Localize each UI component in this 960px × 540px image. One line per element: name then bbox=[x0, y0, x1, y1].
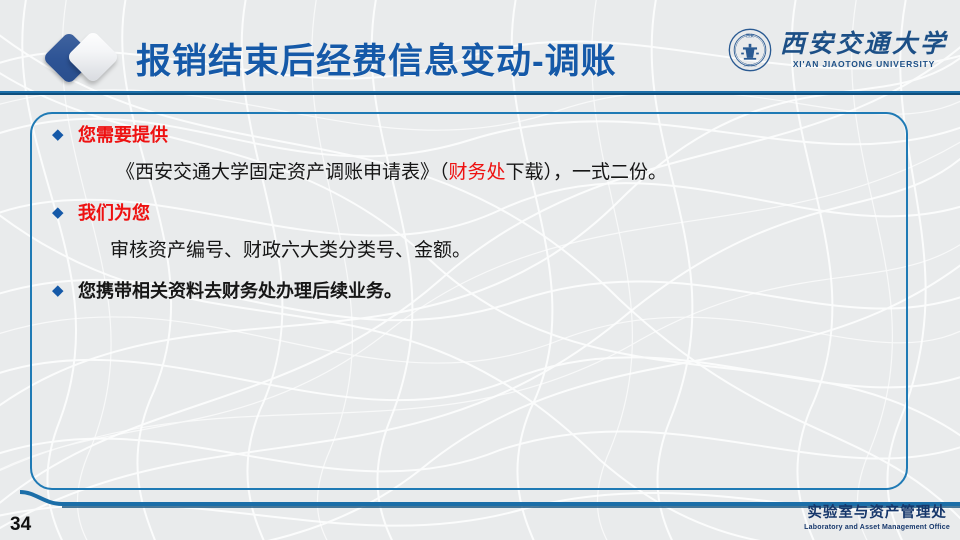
detail-suffix: 下载），一式二份。 bbox=[506, 162, 668, 183]
detail-prefix: 审核资产编号、财政六大类分类号、金额。 bbox=[110, 240, 471, 261]
diamond-bullet-icon: ◆ bbox=[52, 196, 78, 230]
header-divider-inner bbox=[0, 93, 960, 95]
svg-text:西安: 西安 bbox=[746, 33, 754, 38]
detail-prefix: 《西安交通大学固定资产调账申请表》（ bbox=[116, 162, 449, 183]
list-item: ◆ 您需要提供 bbox=[52, 118, 892, 152]
diamond-bullet-icon: ◆ bbox=[52, 118, 78, 152]
list-item: ◆ 我们为您 bbox=[52, 196, 892, 230]
xjtu-seal-icon: 西安 JIAOTONG bbox=[728, 28, 772, 72]
bullet-list: ◆ 您需要提供 《西安交通大学固定资产调账申请表》（财务处下载），一式二份。 ◆… bbox=[52, 118, 892, 310]
page-title: 报销结束后经费信息变动-调账 bbox=[136, 33, 617, 84]
footer-organization: 实验室与资产管理处 Laboratory and Asset Managemen… bbox=[804, 506, 950, 531]
list-item-heading: 您需要提供 bbox=[78, 118, 168, 152]
list-item-detail: 《西安交通大学固定资产调账申请表》（财务处下载），一式二份。 bbox=[116, 156, 892, 190]
list-item-heading: 您携带相关资料去财务处办理后续业务。 bbox=[78, 274, 402, 308]
diamond-bullet-icon: ◆ bbox=[52, 274, 78, 308]
university-name-en: XI'AN JIAOTONG UNIVERSITY bbox=[793, 60, 935, 69]
university-logo: 西安 JIAOTONG 西安交通大学 XI'AN JIAOTONG UNIVER… bbox=[728, 28, 948, 72]
footer-org-cn: 实验室与资产管理处 bbox=[804, 506, 950, 521]
university-name-cn: 西安交通大学 bbox=[780, 32, 948, 57]
svg-text:JIAOTONG: JIAOTONG bbox=[743, 64, 756, 68]
footer-org-en: Laboratory and Asset Management Office bbox=[804, 524, 950, 531]
list-item: ◆ 您携带相关资料去财务处办理后续业务。 bbox=[52, 274, 892, 308]
slide: 报销结束后经费信息变动-调账 西安 JIAOTONG 西安交通大学 XI'AN … bbox=[0, 0, 960, 540]
list-item-heading: 我们为您 bbox=[78, 196, 150, 230]
slide-header: 报销结束后经费信息变动-调账 西安 JIAOTONG 西安交通大学 XI'AN … bbox=[0, 0, 960, 93]
detail-highlight: 财务处 bbox=[449, 162, 506, 183]
list-item-detail: 审核资产编号、财政六大类分类号、金额。 bbox=[110, 234, 892, 268]
diamond-logo-icon bbox=[44, 28, 144, 90]
page-number: 34 bbox=[10, 514, 31, 536]
